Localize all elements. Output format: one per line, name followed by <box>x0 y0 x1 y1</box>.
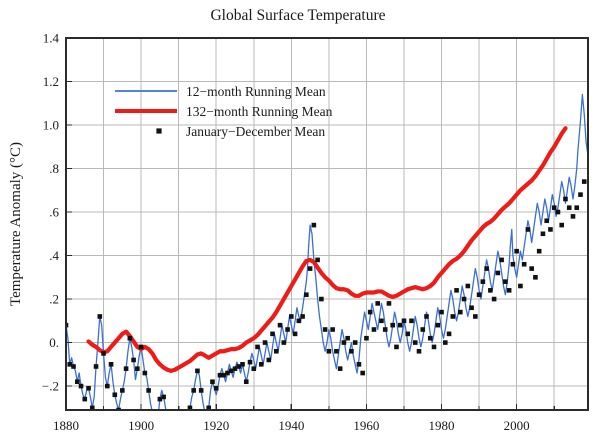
annual-mean-marker <box>79 384 84 389</box>
y-tick-label-1: 0. <box>49 335 59 350</box>
annual-mean-marker <box>338 366 343 371</box>
annual-mean-marker <box>511 262 516 267</box>
annual-mean-marker <box>289 314 294 319</box>
annual-mean-marker <box>462 297 467 302</box>
annual-mean-marker <box>398 323 403 328</box>
annual-mean-marker <box>210 379 215 384</box>
annual-mean-marker <box>571 214 576 219</box>
annual-mean-marker <box>499 258 504 263</box>
annual-mean-marker <box>526 227 531 232</box>
annual-mean-marker <box>300 314 305 319</box>
annual-mean-marker <box>529 266 534 271</box>
annual-mean-marker <box>135 366 140 371</box>
annual-mean-marker <box>574 205 579 210</box>
annual-mean-marker <box>357 362 362 367</box>
annual-mean-marker <box>518 284 523 289</box>
legend-label-1: 12−month Running Mean <box>186 84 326 99</box>
annual-mean-marker <box>251 366 256 371</box>
annual-mean-marker <box>563 197 568 202</box>
annual-mean-marker <box>451 314 456 319</box>
annual-mean-marker <box>552 205 557 210</box>
annual-mean-marker <box>282 340 287 345</box>
annual-mean-marker <box>263 340 268 345</box>
annual-mean-marker <box>304 292 309 297</box>
annual-mean-marker <box>315 258 320 263</box>
x-tick-label-3: 1940 <box>278 418 304 433</box>
annual-mean-marker <box>334 349 339 354</box>
annual-mean-marker <box>496 271 501 276</box>
x-tick-label-1: 1900 <box>128 418 154 433</box>
annual-mean-marker <box>503 279 508 284</box>
annual-mean-marker <box>199 388 204 393</box>
annual-mean-marker <box>428 336 433 341</box>
annual-mean-marker <box>312 223 317 228</box>
annual-mean-marker <box>191 388 196 393</box>
annual-mean-marker <box>266 358 271 363</box>
annual-mean-marker <box>443 340 448 345</box>
annual-mean-marker <box>97 314 102 319</box>
annual-mean-marker <box>323 327 328 332</box>
annual-mean-marker <box>413 340 418 345</box>
annual-mean-marker <box>270 332 275 337</box>
annual-mean-marker <box>71 364 76 369</box>
annual-mean-marker <box>75 379 80 384</box>
annual-mean-marker <box>255 345 260 350</box>
annual-mean-marker <box>544 218 549 223</box>
annual-mean-marker <box>297 319 302 324</box>
annual-mean-marker <box>94 364 99 369</box>
annual-mean-marker <box>120 388 125 393</box>
annual-mean-marker <box>447 332 452 337</box>
annual-mean-marker <box>244 379 249 384</box>
annual-mean-marker <box>342 340 347 345</box>
annual-mean-marker <box>390 323 395 328</box>
y-tick-label-6: 1.0 <box>43 118 59 133</box>
annual-mean-marker <box>146 388 151 393</box>
annual-mean-marker <box>420 327 425 332</box>
annual-mean-marker <box>259 362 264 367</box>
x-tick-label-6: 2000 <box>504 418 530 433</box>
annual-mean-marker <box>161 395 166 400</box>
chart-title: Global Surface Temperature <box>210 7 385 24</box>
x-tick-label-2: 1920 <box>203 418 229 433</box>
annual-mean-marker <box>364 336 369 341</box>
annual-mean-marker <box>458 310 463 315</box>
global-surface-temperature-chart: Global Surface Temperature Temperature A… <box>0 0 600 446</box>
annual-mean-marker <box>330 327 335 332</box>
annual-mean-marker <box>278 323 283 328</box>
annual-mean-marker <box>424 314 429 319</box>
annual-mean-marker <box>353 340 358 345</box>
annual-mean-marker <box>578 192 583 197</box>
y-tick-label-8: 1.4 <box>43 31 60 46</box>
legend-label-3: January−December Mean <box>186 124 325 139</box>
annual-mean-marker <box>409 319 414 324</box>
annual-mean-marker <box>113 392 118 397</box>
annual-mean-marker <box>214 386 219 391</box>
annual-mean-marker <box>345 336 350 341</box>
annual-mean-marker <box>101 351 106 356</box>
annual-mean-marker <box>439 310 444 315</box>
annual-mean-marker <box>109 362 114 367</box>
annual-mean-marker <box>274 349 279 354</box>
annual-mean-marker <box>402 319 407 324</box>
annual-mean-marker <box>533 275 538 280</box>
annual-mean-marker <box>195 369 200 374</box>
annual-mean-marker <box>293 332 298 337</box>
annual-mean-marker <box>308 266 313 271</box>
annual-mean-marker <box>327 349 332 354</box>
annual-mean-marker <box>466 284 471 289</box>
annual-mean-marker <box>454 288 459 293</box>
y-tick-label-5: .8 <box>49 161 59 176</box>
annual-mean-marker <box>492 297 497 302</box>
y-tick-label-2: .2 <box>49 292 59 307</box>
chart-background <box>0 0 600 446</box>
annual-mean-marker <box>514 249 519 254</box>
annual-mean-marker <box>405 332 410 337</box>
annual-mean-marker <box>556 210 561 215</box>
annual-mean-marker <box>522 262 527 267</box>
y-tick-label-0: −.2 <box>42 379 59 394</box>
annual-mean-marker <box>124 366 129 371</box>
annual-mean-marker <box>582 179 587 184</box>
annual-mean-marker <box>567 205 572 210</box>
annual-mean-marker <box>86 386 91 391</box>
chart-canvas: Global Surface Temperature Temperature A… <box>0 0 600 446</box>
annual-mean-marker <box>372 327 377 332</box>
annual-mean-marker <box>469 305 474 310</box>
annual-mean-marker <box>82 397 87 402</box>
annual-mean-marker <box>559 223 564 228</box>
annual-mean-marker <box>139 345 144 350</box>
x-tick-label-4: 1960 <box>353 418 379 433</box>
annual-mean-marker <box>240 362 245 367</box>
annual-mean-marker <box>128 336 133 341</box>
annual-mean-marker <box>379 319 384 324</box>
legend-marker-square-icon <box>156 128 161 133</box>
annual-mean-marker <box>360 371 365 376</box>
annual-mean-marker <box>394 345 399 350</box>
annual-mean-marker <box>387 301 392 306</box>
annual-mean-marker <box>131 358 136 363</box>
annual-mean-marker <box>473 314 478 319</box>
annual-mean-marker <box>481 279 486 284</box>
annual-mean-marker <box>375 301 380 306</box>
legend-label-2: 132−month Running Mean <box>186 104 333 119</box>
y-tick-label-3: .4 <box>49 248 59 263</box>
x-tick-label-0: 1880 <box>53 418 79 433</box>
annual-mean-marker <box>349 349 354 354</box>
annual-mean-marker <box>537 249 542 254</box>
annual-mean-marker <box>432 345 437 350</box>
y-axis-title: Temperature Anomaly (°C) <box>8 142 24 306</box>
x-tick-label-5: 1980 <box>429 418 455 433</box>
y-tick-label-4: .6 <box>49 205 59 220</box>
annual-mean-marker <box>507 288 512 293</box>
annual-mean-marker <box>285 327 290 332</box>
y-tick-label-7: 1.2 <box>43 74 59 89</box>
annual-mean-marker <box>477 292 482 297</box>
annual-mean-marker <box>248 360 253 365</box>
annual-mean-marker <box>484 266 489 271</box>
annual-mean-marker <box>435 323 440 328</box>
annual-mean-marker <box>383 327 388 332</box>
annual-mean-marker <box>143 371 148 376</box>
annual-mean-marker <box>105 384 110 389</box>
annual-mean-marker <box>417 349 422 354</box>
annual-mean-marker <box>541 231 546 236</box>
annual-mean-marker <box>368 310 373 315</box>
annual-mean-marker <box>319 297 324 302</box>
annual-mean-marker <box>548 227 553 232</box>
annual-mean-marker <box>488 288 493 293</box>
